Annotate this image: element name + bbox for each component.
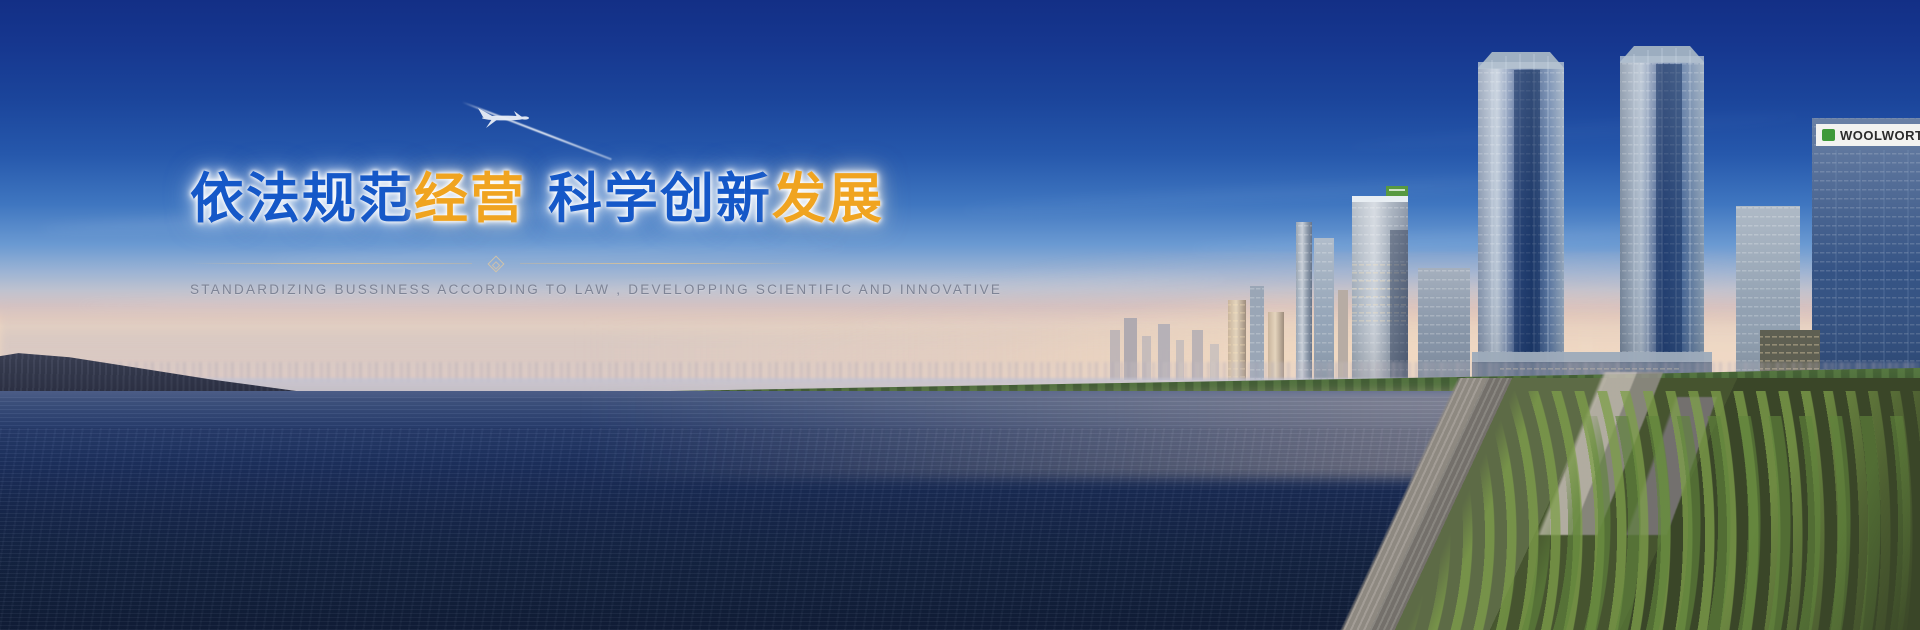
banner-hero: WOOLWORTHS (0, 0, 1920, 630)
headline-part-2: 科学创新 (548, 169, 772, 229)
bank-trees-back (1152, 416, 1920, 630)
airplane-group (440, 95, 640, 165)
decorative-divider (190, 258, 802, 270)
diamond-ornament-icon (488, 255, 505, 272)
headline-part-1: 依法规范 (190, 169, 414, 229)
headline: 依法规范经营科学创新发展 (190, 168, 830, 232)
divider-line-right (520, 263, 802, 264)
divider-line-left (190, 263, 472, 264)
headline-accent-2: 发展 (772, 169, 884, 229)
banner-text-block: 依法规范经营科学创新发展 STANDARDIZING BUSSINESS ACC… (190, 168, 830, 297)
svg-text:WOOLWORTHS: WOOLWORTHS (1840, 128, 1920, 143)
headline-accent-1: 经营 (414, 169, 526, 229)
subtitle: STANDARDIZING BUSSINESS ACCORDING TO LAW… (190, 282, 830, 297)
airplane-icon (464, 105, 538, 131)
